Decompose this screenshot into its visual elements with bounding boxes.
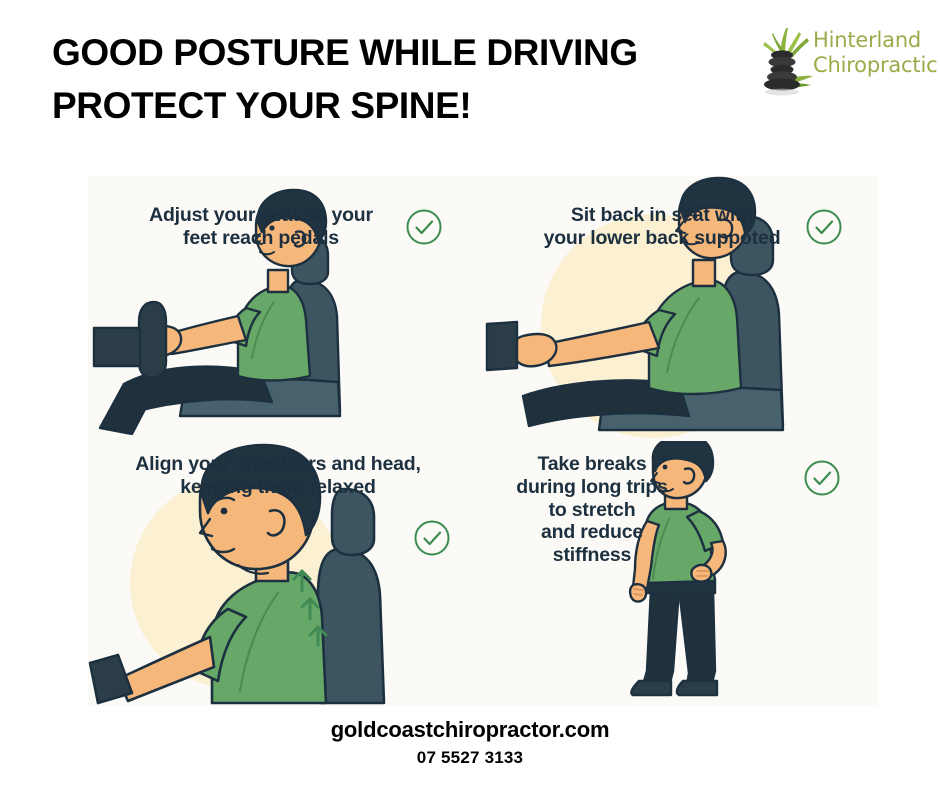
logo-name-line-1: Hinterland: [813, 28, 933, 53]
check-circle-icon: [803, 459, 841, 497]
title-line-1: GOOD POSTURE WHILE DRIVING: [52, 26, 752, 79]
panel-take-breaks-caption: Take breaks during long trips to stretch…: [497, 453, 687, 567]
panel-align-shoulders: Align your shoulders and head, keeping t…: [88, 441, 483, 706]
panel-sit-back-caption: Sit back in seat with your lower back su…: [497, 204, 827, 250]
panel-adjust-seat: Adjust your seat so your feet reach peda…: [88, 176, 483, 441]
page-title: GOOD POSTURE WHILE DRIVING PROTECT YOUR …: [52, 26, 752, 132]
header: GOOD POSTURE WHILE DRIVING PROTECT YOUR …: [0, 0, 940, 150]
brand-logo[interactable]: Hinterland Chiropractic: [755, 18, 930, 108]
infographic-page: GOOD POSTURE WHILE DRIVING PROTECT YOUR …: [0, 0, 940, 788]
logo-wordmark: Hinterland Chiropractic: [813, 28, 933, 78]
title-line-2: PROTECT YOUR SPINE!: [52, 79, 752, 132]
logo-name-line-2: Chiropractic: [813, 53, 933, 78]
panel-take-breaks: Take breaks during long trips to stretch…: [483, 441, 878, 706]
tips-grid: Adjust your seat so your feet reach peda…: [88, 176, 878, 706]
check-circle-icon: [413, 519, 451, 557]
footer-website[interactable]: goldcoastchiropractor.com: [0, 715, 940, 745]
panel-adjust-seat-caption: Adjust your seat so your feet reach peda…: [96, 204, 426, 250]
stacked-stones-bamboo-icon: [755, 22, 817, 98]
panel-sit-back: Sit back in seat with your lower back su…: [483, 176, 878, 441]
panel-align-shoulders-caption: Align your shoulders and head, keeping t…: [88, 453, 468, 499]
footer-phone[interactable]: 07 5527 3133: [0, 745, 940, 771]
footer: goldcoastchiropractor.com 07 5527 3133: [0, 715, 940, 771]
check-circle-icon: [405, 208, 443, 246]
check-circle-icon: [805, 208, 843, 246]
